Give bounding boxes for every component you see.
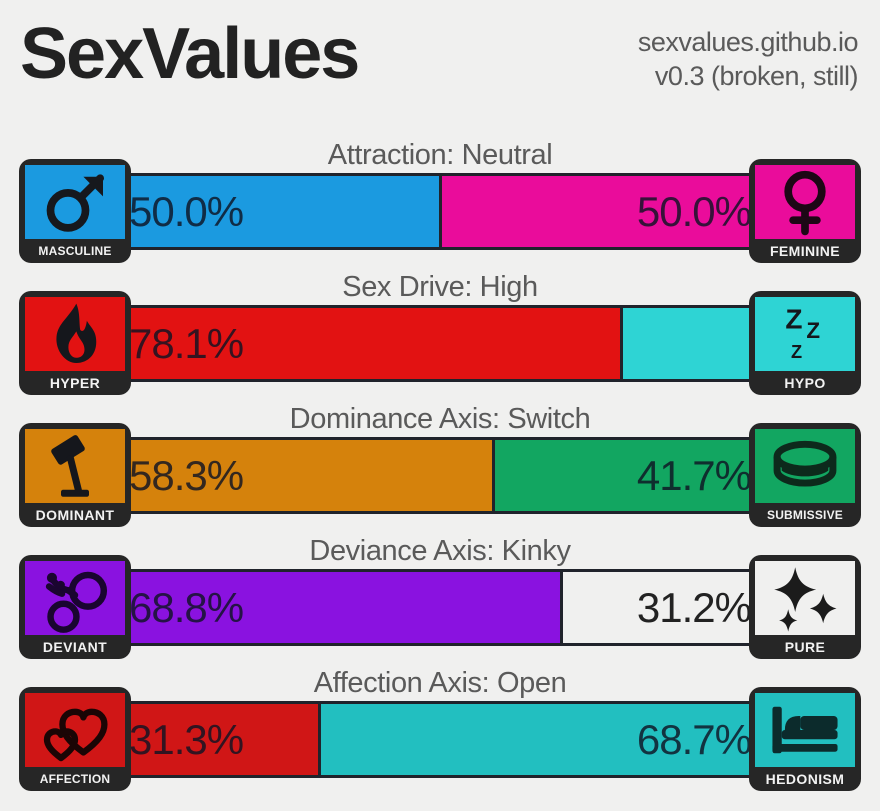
bar-percent-label: 31.3%: [115, 719, 257, 761]
bar-percent-label: 41.7%: [623, 455, 765, 497]
bar-segment-left: 50.0%: [115, 176, 439, 247]
axis-chip-label: HEDONISM: [755, 767, 855, 791]
svg-text:Z: Z: [785, 303, 802, 334]
axis-bar-track: 68.8%31.2%: [112, 569, 768, 646]
page-title: SexValues: [20, 18, 358, 90]
sleep-zzz-icon: ZZZ: [755, 297, 855, 371]
axis-chip-label: DOMINANT: [25, 503, 125, 527]
flame-icon: [25, 297, 125, 371]
axis-chip-left: AFFECTION: [19, 687, 131, 791]
bed-icon: [755, 693, 855, 767]
bar-percent-label: 58.3%: [115, 455, 257, 497]
axis-chip-label: DEVIANT: [25, 635, 125, 659]
svg-text:Z: Z: [791, 342, 802, 362]
axis-row: Deviance Axis: Kinky68.8%31.2%DEVIANTPUR…: [0, 528, 880, 660]
axis-bar-track: 31.3%68.7%: [112, 701, 768, 778]
axis-title: Sex Drive: High: [0, 271, 880, 304]
axis-title: Dominance Axis: Switch: [0, 403, 880, 436]
axis-row: Sex Drive: High78.1%HYPERZZZHYPO: [0, 264, 880, 396]
axis-bar-track: 58.3%41.7%: [112, 437, 768, 514]
axis-chip-label: HYPO: [755, 371, 855, 395]
axis-chip-label: FEMININE: [755, 239, 855, 263]
axis-chip-right: ZZZHYPO: [749, 291, 861, 395]
collar-icon: [755, 429, 855, 503]
bar-segment-right: 41.7%: [495, 440, 765, 511]
site-url: sexvalues.github.io: [638, 26, 858, 60]
bar-segment-right: 50.0%: [442, 176, 766, 247]
axis-chip-left: DOMINANT: [19, 423, 131, 527]
axis-chip-left: MASCULINE: [19, 159, 131, 263]
axis-chip-label: SUBMISSIVE: [755, 503, 855, 527]
svg-text:Z: Z: [806, 318, 820, 343]
axis-chip-right: PURE: [749, 555, 861, 659]
version-label: v0.3 (broken, still): [638, 60, 858, 94]
bar-percent-label: 50.0%: [623, 191, 765, 233]
axis-title: Attraction: Neutral: [0, 139, 880, 172]
bar-segment-left: 58.3%: [115, 440, 492, 511]
axis-chip-left: HYPER: [19, 291, 131, 395]
bar-percent-label: 68.8%: [115, 587, 257, 629]
bar-segment-left: 78.1%: [115, 308, 620, 379]
bar-segment-left: 68.8%: [115, 572, 560, 643]
bar-segment-right: 68.7%: [321, 704, 765, 775]
hearts-icon: [25, 693, 125, 767]
axis-row: Attraction: Neutral50.0%50.0%MASCULINEFE…: [0, 132, 880, 264]
venus-icon: [755, 165, 855, 239]
axis-row: Affection Axis: Open31.3%68.7%AFFECTIONH…: [0, 660, 880, 792]
bar-percent-label: 78.1%: [115, 323, 257, 365]
axis-bar-track: 50.0%50.0%: [112, 173, 768, 250]
mars-icon: [25, 165, 125, 239]
axis-chip-label: AFFECTION: [25, 767, 125, 791]
bar-percent-label: 68.7%: [623, 719, 765, 761]
axis-chip-right: SUBMISSIVE: [749, 423, 861, 527]
handcuffs-icon: [25, 561, 125, 635]
bar-percent-label: 31.2%: [623, 587, 765, 629]
axis-chip-right: FEMININE: [749, 159, 861, 263]
bar-percent-label: 50.0%: [115, 191, 257, 233]
sparkles-icon: [755, 561, 855, 635]
sexvalues-result-card: SexValues sexvalues.github.io v0.3 (brok…: [0, 0, 880, 811]
axis-row-list: Attraction: Neutral50.0%50.0%MASCULINEFE…: [0, 132, 880, 792]
bar-segment-right: 31.2%: [563, 572, 765, 643]
axis-chip-label: MASCULINE: [25, 239, 125, 263]
axis-row: Dominance Axis: Switch58.3%41.7%DOMINANT…: [0, 396, 880, 528]
axis-chip-left: DEVIANT: [19, 555, 131, 659]
bar-segment-right: [623, 308, 765, 379]
axis-chip-label: HYPER: [25, 371, 125, 395]
header: SexValues sexvalues.github.io v0.3 (brok…: [0, 0, 880, 130]
gavel-icon: [25, 429, 125, 503]
axis-bar-track: 78.1%: [112, 305, 768, 382]
axis-chip-label: PURE: [755, 635, 855, 659]
header-meta: sexvalues.github.io v0.3 (broken, still): [638, 26, 858, 94]
axis-chip-right: HEDONISM: [749, 687, 861, 791]
axis-title: Affection Axis: Open: [0, 667, 880, 700]
bar-segment-left: 31.3%: [115, 704, 318, 775]
axis-title: Deviance Axis: Kinky: [0, 535, 880, 568]
